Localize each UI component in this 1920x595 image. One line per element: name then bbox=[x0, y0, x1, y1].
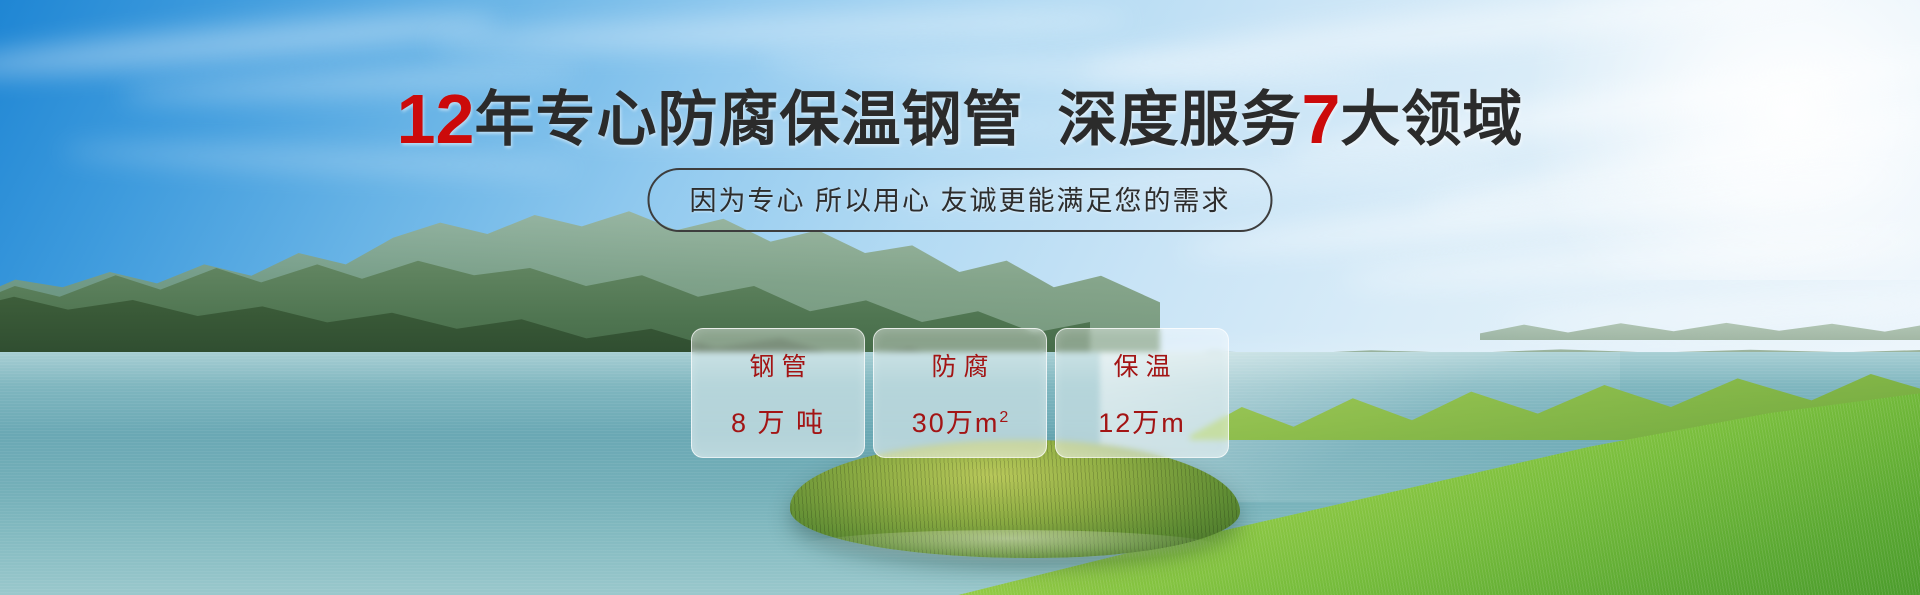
stat-card-title: 保温 bbox=[1106, 347, 1177, 383]
headline-text-part2: 深度服务 bbox=[1057, 86, 1301, 153]
stat-card-value-superscript: 2 bbox=[999, 409, 1008, 426]
banner-headline: 12年专心防腐保温钢管深度服务7大领域 bbox=[0, 84, 1920, 154]
promo-banner: 12年专心防腐保温钢管深度服务7大领域 因为专心 所以用心 友诚更能满足您的需求… bbox=[0, 0, 1920, 595]
stat-card-anticorrosion[interactable]: 防腐 30万m2 bbox=[873, 328, 1047, 458]
headline-text-part1: 年专心防腐保温钢管 bbox=[474, 86, 1023, 153]
stat-card-title: 钢管 bbox=[742, 347, 813, 383]
stat-card-value: 8 万 吨 bbox=[731, 401, 825, 440]
stat-card-value: 12万m bbox=[1098, 401, 1186, 440]
stat-card-value-base: 30万m bbox=[912, 408, 1000, 438]
stat-card-group: 钢管 8 万 吨 防腐 30万m2 保温 12万m bbox=[691, 328, 1229, 458]
stat-card-insulation[interactable]: 保温 12万m bbox=[1055, 328, 1229, 458]
stat-card-value-base: 8 万 吨 bbox=[731, 408, 825, 438]
headline-fields-number: 7 bbox=[1301, 80, 1340, 158]
stat-card-value: 30万m2 bbox=[912, 401, 1008, 440]
headline-years-number: 12 bbox=[397, 80, 475, 158]
subtitle-pill: 因为专心 所以用心 友诚更能满足您的需求 bbox=[647, 168, 1272, 232]
stat-card-value-base: 12万m bbox=[1098, 408, 1186, 438]
stat-card-title: 防腐 bbox=[924, 347, 995, 383]
headline-text-part3: 大领域 bbox=[1340, 86, 1523, 153]
stat-card-steel-pipe[interactable]: 钢管 8 万 吨 bbox=[691, 328, 865, 458]
